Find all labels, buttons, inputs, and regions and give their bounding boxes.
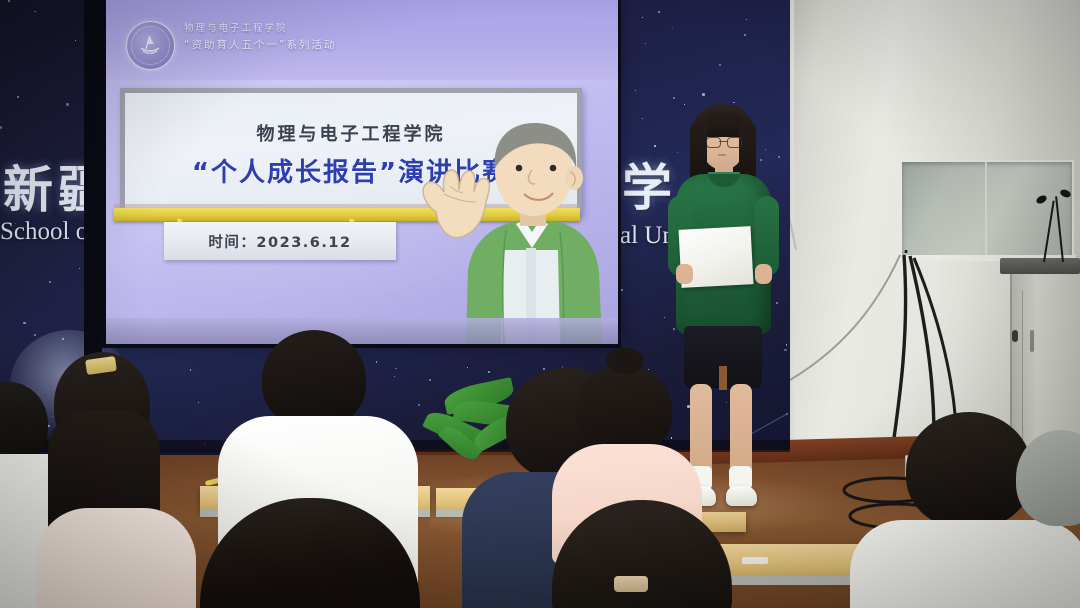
slide-header-text: 物理与电子工程学院 “资助育人五个一”系列活动 <box>184 22 484 53</box>
cartoon-eye-right <box>550 165 557 172</box>
backdrop-left-english-text: School of <box>0 218 97 246</box>
presenter-glasses-bridge <box>719 141 727 142</box>
slide-header-line2: “资助育人五个一”系列活动 <box>184 37 484 53</box>
head <box>906 412 1032 528</box>
slide-header-line1: 物理与电子工程学院 <box>184 22 484 36</box>
slide-header-band: 物理与电子工程学院 “资助育人五个一”系列活动 <box>106 0 618 80</box>
presenter-glasses-left <box>706 137 721 148</box>
projection-screen: 物理与电子工程学院 “资助育人五个一”系列活动 物理与电子工程学院 “个人成长报… <box>106 0 618 344</box>
screen-lower-band <box>106 318 618 344</box>
shoulders <box>36 508 196 608</box>
presenter-mouth <box>718 154 726 156</box>
hair-bun <box>606 348 644 374</box>
shoulders <box>850 520 1080 608</box>
presenter-shoe-right <box>726 486 757 506</box>
cabinet-door-seam <box>1022 290 1023 450</box>
presenter-shorts-gap <box>719 366 727 390</box>
interior-window <box>900 160 1074 261</box>
cabinet-top-panel <box>1000 258 1080 274</box>
head <box>262 330 366 428</box>
eraser-on-desk[interactable] <box>742 557 768 564</box>
photo-scene: 新疆 School of 学 al Un 物理与电子工程学院 “资助育人五个一”… <box>0 0 1080 608</box>
date-sign-label: 时间：2023.6.12 <box>208 231 351 252</box>
presenter-hand-right <box>755 264 772 284</box>
seal-emblem-icon <box>138 35 162 57</box>
hair-tie <box>614 576 648 592</box>
cartoon-speaker-illustration <box>406 120 621 344</box>
cabinet-lock-knob[interactable] <box>1012 330 1018 342</box>
presenter-hand-left <box>676 264 693 284</box>
date-sign: 时间：2023.6.12 <box>164 222 396 260</box>
head <box>576 364 672 456</box>
presenter-glasses-right <box>727 137 742 148</box>
university-seal-logo <box>126 21 175 70</box>
cartoon-hand <box>423 170 489 238</box>
cabinet-handle[interactable] <box>1030 330 1034 352</box>
cartoon-eye-left <box>516 165 523 172</box>
